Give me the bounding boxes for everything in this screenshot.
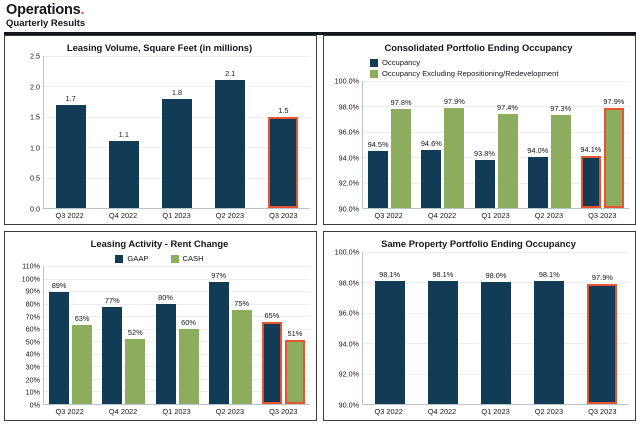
bar[interactable]: 98.0% <box>481 282 511 404</box>
legend-label: Occupancy Excluding Repositioning/Redeve… <box>382 69 558 78</box>
bar-wrap: 97.8% <box>391 81 411 208</box>
bar-wrap: 97.9% <box>587 252 617 404</box>
bar[interactable]: 98.1% <box>375 281 405 404</box>
legend-swatch-icon <box>171 255 179 263</box>
bar[interactable]: 97.8% <box>391 109 411 208</box>
bar-group: 1.5 <box>257 56 310 208</box>
bar-value-label: 98.1% <box>379 270 400 279</box>
bar-series: 98.1%98.1%98.0%98.1%97.9% <box>363 252 629 404</box>
legend-item-occupancy-excluding[interactable]: Occupancy Excluding Repositioning/Redeve… <box>370 68 629 79</box>
bar[interactable]: 97.4% <box>498 114 518 208</box>
bar-value-label: 97.9% <box>444 97 465 106</box>
bar[interactable]: 63% <box>72 325 92 404</box>
legend-label: GAAP <box>127 254 148 263</box>
bar-wrap: 97.9% <box>444 81 464 208</box>
bar-value-label: 1.8 <box>172 88 182 97</box>
bar-wrap: 98.1% <box>534 252 564 404</box>
x-tick-label: Q4 2022 <box>96 405 149 418</box>
bar-value-label: 75% <box>234 299 249 308</box>
bar-value-label: 94.6% <box>421 139 442 148</box>
y-axis-labels: 0%10%20%30%40%50%60%70%80%90%100%110% <box>9 266 43 405</box>
bar-group: 98.1% <box>523 252 576 404</box>
x-axis-labels: Q3 2022Q4 2022Q1 2023Q2 2023Q3 2023 <box>362 209 629 222</box>
chart-title: Consolidated Portfolio Ending Occupancy <box>328 42 629 54</box>
bar-value-label: 97.4% <box>497 103 518 112</box>
bar-wrap: 97.9% <box>604 81 624 208</box>
bar-value-label: 65% <box>265 311 280 320</box>
bar-value-label: 1.5 <box>278 106 288 115</box>
y-tick-label: 90.0% <box>339 205 359 214</box>
x-tick-label: Q3 2023 <box>576 405 629 418</box>
bar-group: 94.6%97.9% <box>416 81 469 208</box>
bar-wrap: 1.1 <box>109 56 139 208</box>
y-tick-label: 98.0% <box>339 278 359 287</box>
bar-value-label: 51% <box>288 329 303 338</box>
x-tick-label: Q1 2023 <box>150 209 203 222</box>
bar[interactable]: 93.8% <box>475 160 495 208</box>
y-tick-label: 100.0% <box>335 248 359 257</box>
y-tick-label: 2.0 <box>30 82 40 91</box>
bar-wrap: 94.6% <box>421 81 441 208</box>
plot-area: 0.00.51.01.52.02.5 1.71.11.82.11.5 <box>9 56 310 209</box>
legend-swatch-icon <box>370 59 378 67</box>
page-subtitle: Quarterly Results <box>6 18 640 30</box>
legend-item-gaap[interactable]: GAAP <box>115 253 148 264</box>
y-tick-label: 50% <box>26 337 40 346</box>
bar[interactable]: 1.1 <box>109 141 139 208</box>
bar-value-label: 93.8% <box>474 149 495 158</box>
bar-wrap: 80% <box>156 266 176 404</box>
bar-wrap: 94.5% <box>368 81 388 208</box>
x-tick-label: Q2 2023 <box>522 209 575 222</box>
bar-group: 1.8 <box>150 56 203 208</box>
bar[interactable]: 94.0% <box>528 157 548 208</box>
x-tick-label: Q1 2023 <box>469 209 522 222</box>
y-tick-label: 20% <box>26 375 40 384</box>
x-tick-label: Q1 2023 <box>469 405 522 418</box>
legend-item-occupancy[interactable]: Occupancy <box>370 57 629 68</box>
legend-swatch-icon <box>115 255 123 263</box>
x-tick-label: Q2 2023 <box>203 405 256 418</box>
x-axis-labels: Q3 2022Q4 2022Q1 2023Q2 2023Q3 2023 <box>43 405 310 418</box>
bar[interactable]: 51% <box>285 340 305 404</box>
page-header: Operations. Quarterly Results <box>0 0 640 30</box>
bar-value-label: 77% <box>105 296 120 305</box>
chart-panel-leasing-volume: Leasing Volume, Square Feet (in millions… <box>4 35 317 225</box>
bar-wrap: 63% <box>72 266 92 404</box>
x-tick-label: Q1 2023 <box>150 405 203 418</box>
bar-series: 94.5%97.8%94.6%97.9%93.8%97.4%94.0%97.3%… <box>363 81 629 208</box>
bar-group: 94.5%97.8% <box>363 81 416 208</box>
bar-value-label: 97% <box>211 271 226 280</box>
bar-wrap: 52% <box>125 266 145 404</box>
bar-group: 65%51% <box>257 266 310 404</box>
y-tick-label: 2.5 <box>30 52 40 61</box>
bar-wrap: 2.1 <box>215 56 245 208</box>
bar-group: 94.0%97.3% <box>523 81 576 208</box>
bar-group: 98.1% <box>363 252 416 404</box>
x-tick-label: Q3 2022 <box>43 405 96 418</box>
bar-wrap: 97% <box>209 266 229 404</box>
bar-value-label: 97.3% <box>550 104 571 113</box>
y-axis-labels: 90.0%92.0%94.0%96.0%98.0%100.0% <box>328 252 362 405</box>
bar-wrap: 98.0% <box>481 252 511 404</box>
y-tick-label: 1.5 <box>30 113 40 122</box>
bar-group: 98.0% <box>469 252 522 404</box>
x-tick-label: Q3 2023 <box>576 209 629 222</box>
bar[interactable]: 94.1% <box>581 156 601 208</box>
y-tick-label: 30% <box>26 363 40 372</box>
x-tick-label: Q4 2022 <box>415 405 468 418</box>
bar-series: 1.71.11.82.11.5 <box>44 56 310 208</box>
y-tick-label: 0.5 <box>30 174 40 183</box>
bar[interactable]: 97.9% <box>444 108 464 208</box>
bar-value-label: 52% <box>128 328 143 337</box>
x-tick-label: Q3 2023 <box>257 209 310 222</box>
y-tick-label: 96.0% <box>339 309 359 318</box>
bar-group: 77%52% <box>97 266 150 404</box>
y-tick-label: 0% <box>30 401 40 410</box>
bar[interactable]: 1.5 <box>268 117 298 208</box>
bar[interactable]: 1.7 <box>56 105 86 208</box>
bar[interactable]: 89% <box>49 292 69 404</box>
bar-group: 2.1 <box>204 56 257 208</box>
bar-group: 1.7 <box>44 56 97 208</box>
x-tick-label: Q3 2022 <box>362 405 415 418</box>
plot-area: 90.0%92.0%94.0%96.0%98.0%100.0% 98.1%98.… <box>328 252 629 405</box>
bar[interactable]: 77% <box>102 307 122 404</box>
bar-series: 89%63%77%52%80%60%97%75%65%51% <box>44 266 310 404</box>
bar-value-label: 1.7 <box>65 94 75 103</box>
x-tick-label: Q3 2022 <box>362 209 415 222</box>
bar-group: 97.9% <box>576 252 629 404</box>
bar-wrap: 93.8% <box>475 81 495 208</box>
y-tick-label: 90.0% <box>339 401 359 410</box>
bar-value-label: 94.5% <box>368 140 389 149</box>
bar-value-label: 60% <box>181 318 196 327</box>
y-tick-label: 0.0 <box>30 205 40 214</box>
y-axis-labels: 90.0%92.0%94.0%96.0%98.0%100.0% <box>328 81 362 209</box>
bar-value-label: 89% <box>52 281 67 290</box>
y-tick-label: 94.0% <box>339 153 359 162</box>
y-tick-label: 60% <box>26 325 40 334</box>
chart-title: Same Property Portfolio Ending Occupancy <box>328 238 629 250</box>
x-tick-label: Q2 2023 <box>522 405 575 418</box>
bar-wrap: 77% <box>102 266 122 404</box>
bar-group: 80%60% <box>150 266 203 404</box>
y-tick-label: 92.0% <box>339 179 359 188</box>
bar-group: 1.1 <box>97 56 150 208</box>
x-tick-label: Q4 2022 <box>96 209 149 222</box>
bar[interactable]: 65% <box>262 322 282 404</box>
bar-value-label: 97.8% <box>391 98 412 107</box>
operations-quarterly-results-page: Operations. Quarterly Results Leasing Vo… <box>0 0 640 424</box>
x-tick-label: Q2 2023 <box>203 209 256 222</box>
legend-label: CASH <box>183 254 204 263</box>
y-tick-label: 98.0% <box>339 102 359 111</box>
y-tick-label: 90% <box>26 287 40 296</box>
bar-group: 98.1% <box>416 252 469 404</box>
bar-value-label: 97.9% <box>603 97 624 106</box>
page-title-text: Operations <box>6 2 81 18</box>
y-tick-label: 96.0% <box>339 128 359 137</box>
bar-value-label: 98.0% <box>486 271 507 280</box>
bar[interactable]: 94.5% <box>368 151 388 208</box>
bar-group: 97%75% <box>204 266 257 404</box>
bar-value-label: 94.0% <box>527 146 548 155</box>
legend-label: Occupancy <box>382 58 420 67</box>
plot-canvas: 89%63%77%52%80%60%97%75%65%51% <box>43 266 310 405</box>
bar[interactable]: 97.3% <box>551 115 571 208</box>
chart-title: Leasing Volume, Square Feet (in millions… <box>9 42 310 54</box>
y-tick-label: 92.0% <box>339 370 359 379</box>
bar-wrap: 98.1% <box>428 252 458 404</box>
y-tick-label: 100.0% <box>335 77 359 86</box>
bar-wrap: 89% <box>49 266 69 404</box>
bar-group: 94.1%97.9% <box>576 81 629 208</box>
bar-wrap: 51% <box>285 266 305 404</box>
bar-wrap: 60% <box>179 266 199 404</box>
y-tick-label: 10% <box>26 388 40 397</box>
bar[interactable]: 2.1 <box>215 80 245 208</box>
bar[interactable]: 80% <box>156 304 176 404</box>
x-tick-label: Q4 2022 <box>415 209 468 222</box>
x-tick-label: Q3 2023 <box>257 405 310 418</box>
bar-wrap: 1.5 <box>268 56 298 208</box>
bar[interactable]: 94.6% <box>421 150 441 208</box>
charts-grid: Leasing Volume, Square Feet (in millions… <box>4 35 636 421</box>
chart-title: Leasing Activity - Rent Change <box>9 238 310 250</box>
y-tick-label: 80% <box>26 299 40 308</box>
bar-value-label: 2.1 <box>225 69 235 78</box>
bar[interactable]: 97.9% <box>604 108 624 208</box>
bar-wrap: 65% <box>262 266 282 404</box>
bar[interactable]: 97% <box>209 282 229 404</box>
bar-group: 89%63% <box>44 266 97 404</box>
chart-panel-consolidated-portfolio-ending-occupancy: Consolidated Portfolio Ending Occupancy … <box>323 35 636 225</box>
title-accent-period: . <box>81 2 85 18</box>
bar-wrap: 98.1% <box>375 252 405 404</box>
bar-value-label: 1.1 <box>119 130 129 139</box>
plot-canvas: 1.71.11.82.11.5 <box>43 56 310 209</box>
bar[interactable]: 98.1% <box>534 281 564 404</box>
bar-wrap: 94.1% <box>581 81 601 208</box>
chart-legend: Occupancy Occupancy Excluding Reposition… <box>370 57 629 79</box>
bar-wrap: 97.4% <box>498 81 518 208</box>
y-tick-label: 1.0 <box>30 143 40 152</box>
bar-wrap: 97.3% <box>551 81 571 208</box>
y-tick-label: 40% <box>26 350 40 359</box>
bar-value-label: 98.1% <box>539 270 560 279</box>
bar-wrap: 75% <box>232 266 252 404</box>
plot-canvas: 98.1%98.1%98.0%98.1%97.9% <box>362 252 629 405</box>
bar-wrap: 94.0% <box>528 81 548 208</box>
y-tick-label: 94.0% <box>339 339 359 348</box>
chart-panel-leasing-activity-rent-change: Leasing Activity - Rent Change GAAP CASH… <box>4 231 317 421</box>
bar[interactable]: 60% <box>179 329 199 404</box>
x-tick-label: Q3 2022 <box>43 209 96 222</box>
bar-value-label: 80% <box>158 293 173 302</box>
plot-canvas: 94.5%97.8%94.6%97.9%93.8%97.4%94.0%97.3%… <box>362 81 629 209</box>
x-axis-labels: Q3 2022Q4 2022Q1 2023Q2 2023Q3 2023 <box>362 405 629 418</box>
bar[interactable]: 98.1% <box>428 281 458 404</box>
bar-value-label: 63% <box>75 314 90 323</box>
plot-area: 90.0%92.0%94.0%96.0%98.0%100.0% 94.5%97.… <box>328 81 629 209</box>
bar-value-label: 98.1% <box>432 270 453 279</box>
chart-panel-same-property-portfolio-ending-occupancy: Same Property Portfolio Ending Occupancy… <box>323 231 636 421</box>
y-axis-labels: 0.00.51.01.52.02.5 <box>9 56 43 209</box>
bar-wrap: 1.8 <box>162 56 192 208</box>
legend-item-cash[interactable]: CASH <box>171 253 204 264</box>
bar[interactable]: 52% <box>125 339 145 404</box>
bar-wrap: 1.7 <box>56 56 86 208</box>
chart-legend: GAAP CASH <box>9 253 310 264</box>
bar-value-label: 97.9% <box>592 273 613 282</box>
legend-swatch-icon <box>370 70 378 78</box>
bar[interactable]: 1.8 <box>162 99 192 208</box>
bar[interactable]: 97.9% <box>587 284 617 404</box>
bar[interactable]: 75% <box>232 310 252 404</box>
y-tick-label: 70% <box>26 312 40 321</box>
x-axis-labels: Q3 2022Q4 2022Q1 2023Q2 2023Q3 2023 <box>43 209 310 222</box>
y-tick-label: 100% <box>22 274 40 283</box>
plot-area: 0%10%20%30%40%50%60%70%80%90%100%110% 89… <box>9 266 310 405</box>
bar-value-label: 94.1% <box>580 145 601 154</box>
bar-group: 93.8%97.4% <box>469 81 522 208</box>
page-title: Operations. <box>6 2 640 18</box>
y-tick-label: 110% <box>22 262 40 271</box>
